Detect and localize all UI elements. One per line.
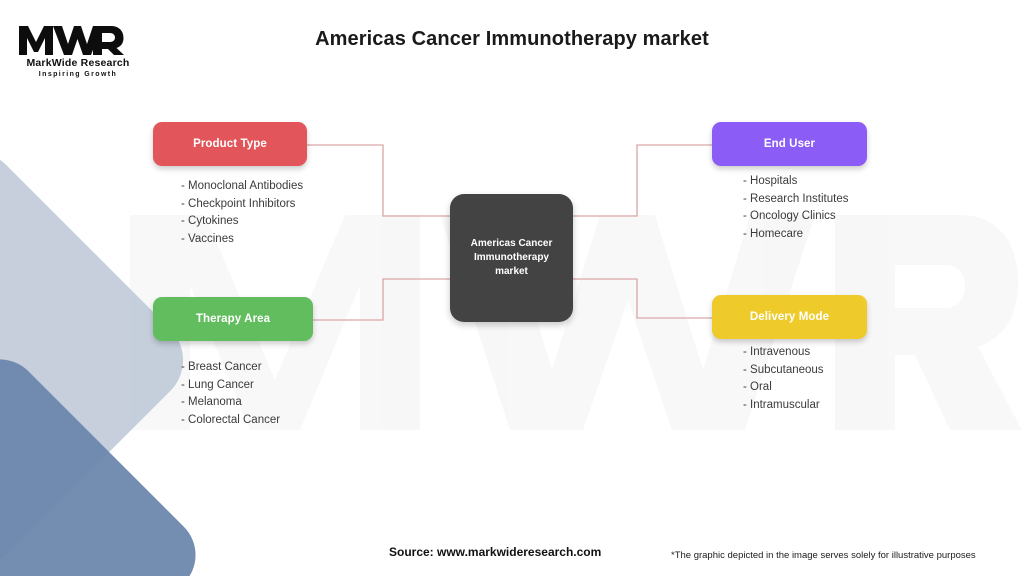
branch-list-delivery-mode: - Intravenous - Subcutaneous - Oral - In… — [743, 344, 824, 414]
connector-product — [307, 145, 455, 216]
branch-header-delivery-mode[interactable]: Delivery Mode — [712, 295, 867, 339]
list-item: - Hospitals — [743, 173, 848, 191]
list-item: - Lung Cancer — [181, 377, 280, 395]
list-item: - Intravenous — [743, 344, 824, 362]
connector-therapy — [313, 279, 455, 320]
connector-delivery — [568, 279, 712, 318]
connector-enduser — [568, 145, 712, 216]
branch-label-end-user: End User — [764, 138, 815, 150]
center-node[interactable]: Americas Cancer Immunotherapy market — [450, 194, 573, 322]
list-item: - Colorectal Cancer — [181, 412, 280, 430]
branch-label-product-type: Product Type — [193, 138, 267, 150]
infographic-canvas: MarkWide Research Inspiring Growth Ameri… — [0, 0, 1024, 576]
footer-disclaimer: *The graphic depicted in the image serve… — [671, 550, 976, 561]
branch-header-therapy-area[interactable]: Therapy Area — [153, 297, 313, 341]
list-item: - Oral — [743, 379, 824, 397]
list-item: - Vaccines — [181, 231, 303, 249]
list-item: - Intramuscular — [743, 397, 824, 415]
list-item: - Homecare — [743, 226, 848, 244]
branch-list-product-type: - Monoclonal Antibodies - Checkpoint Inh… — [181, 178, 303, 248]
center-node-label: Americas Cancer Immunotherapy market — [450, 237, 573, 280]
list-item: - Cytokines — [181, 213, 303, 231]
list-item: - Monoclonal Antibodies — [181, 178, 303, 196]
branch-header-end-user[interactable]: End User — [712, 122, 867, 166]
list-item: - Research Institutes — [743, 191, 848, 209]
list-item: - Subcutaneous — [743, 362, 824, 380]
branch-label-therapy-area: Therapy Area — [196, 313, 270, 325]
branch-list-end-user: - Hospitals - Research Institutes - Onco… — [743, 173, 848, 243]
branch-label-delivery-mode: Delivery Mode — [750, 311, 829, 323]
footer-source: Source: www.markwideresearch.com — [389, 545, 601, 559]
branch-list-therapy-area: - Breast Cancer - Lung Cancer - Melanoma… — [181, 359, 280, 429]
list-item: - Oncology Clinics — [743, 208, 848, 226]
list-item: - Checkpoint Inhibitors — [181, 196, 303, 214]
list-item: - Breast Cancer — [181, 359, 280, 377]
list-item: - Melanoma — [181, 394, 280, 412]
branch-header-product-type[interactable]: Product Type — [153, 122, 307, 166]
